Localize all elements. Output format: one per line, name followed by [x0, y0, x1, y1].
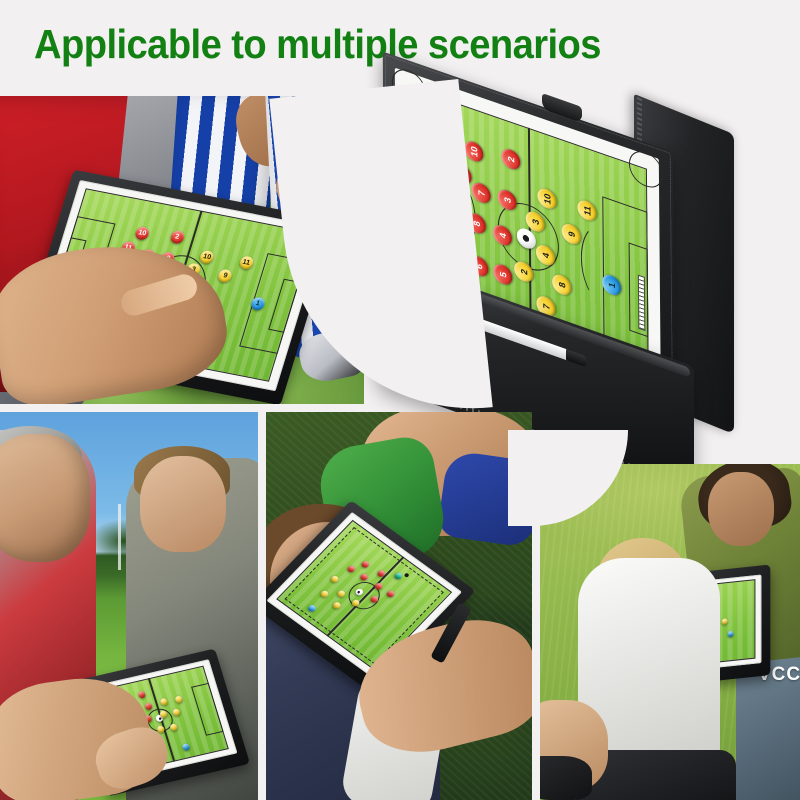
marker-yellow-11: 11 [238, 255, 255, 270]
photo-bottom-middle [266, 412, 532, 800]
marker-yellow [160, 698, 169, 706]
female-coach-head [708, 472, 774, 546]
marker-yellow [172, 708, 181, 716]
marker-red-2: 2 [502, 147, 521, 173]
marker-red-3: 3 [497, 187, 516, 213]
marker-keeper-yellow [182, 742, 191, 750]
marker-red-7: 7 [471, 180, 490, 206]
photo-bottom-left [0, 412, 258, 800]
marker-yellow-8: 8 [552, 272, 571, 298]
marker-red-2: 2 [169, 230, 186, 245]
marker-yellow-11: 11 [578, 197, 597, 223]
marker-yellow-9: 9 [217, 269, 234, 284]
photo-bottom-right: VCC [540, 464, 800, 800]
marker-red [144, 702, 153, 710]
marker-yellow-10: 10 [537, 186, 556, 212]
teammate-blue-shorts [436, 450, 532, 549]
ruler-scale-left [412, 162, 419, 219]
ruler-scale-right [638, 275, 645, 332]
marker-yellow [174, 695, 183, 703]
marker-keeper-yellow [727, 630, 733, 637]
player-head [140, 456, 226, 552]
marker-yellow-10: 10 [199, 249, 216, 264]
marker-yellow [170, 723, 179, 731]
marker-red-5: 5 [493, 262, 512, 288]
photo-top-left: 1 10 2 11 7 3 8 4 4 6 5 10 11 3 9 4 2 8 … [0, 96, 364, 404]
coach-head [0, 434, 90, 562]
marker-red-10: 10 [464, 138, 483, 164]
promo-page: Applicable to multiple scenarios 1 10 [0, 0, 800, 800]
seated-player-shoe [540, 756, 592, 800]
marker-yellow [722, 619, 728, 626]
marker-yellow-9: 9 [561, 221, 580, 247]
marker-red [137, 691, 146, 699]
marker-red-6: 6 [469, 254, 488, 280]
marker-red-10: 10 [134, 226, 151, 241]
hero-product-shot: 1 10 2 11 7 3 8 4 4 6 5 10 11 3 9 4 2 [372, 96, 800, 456]
page-title: Applicable to multiple scenarios [34, 18, 722, 70]
